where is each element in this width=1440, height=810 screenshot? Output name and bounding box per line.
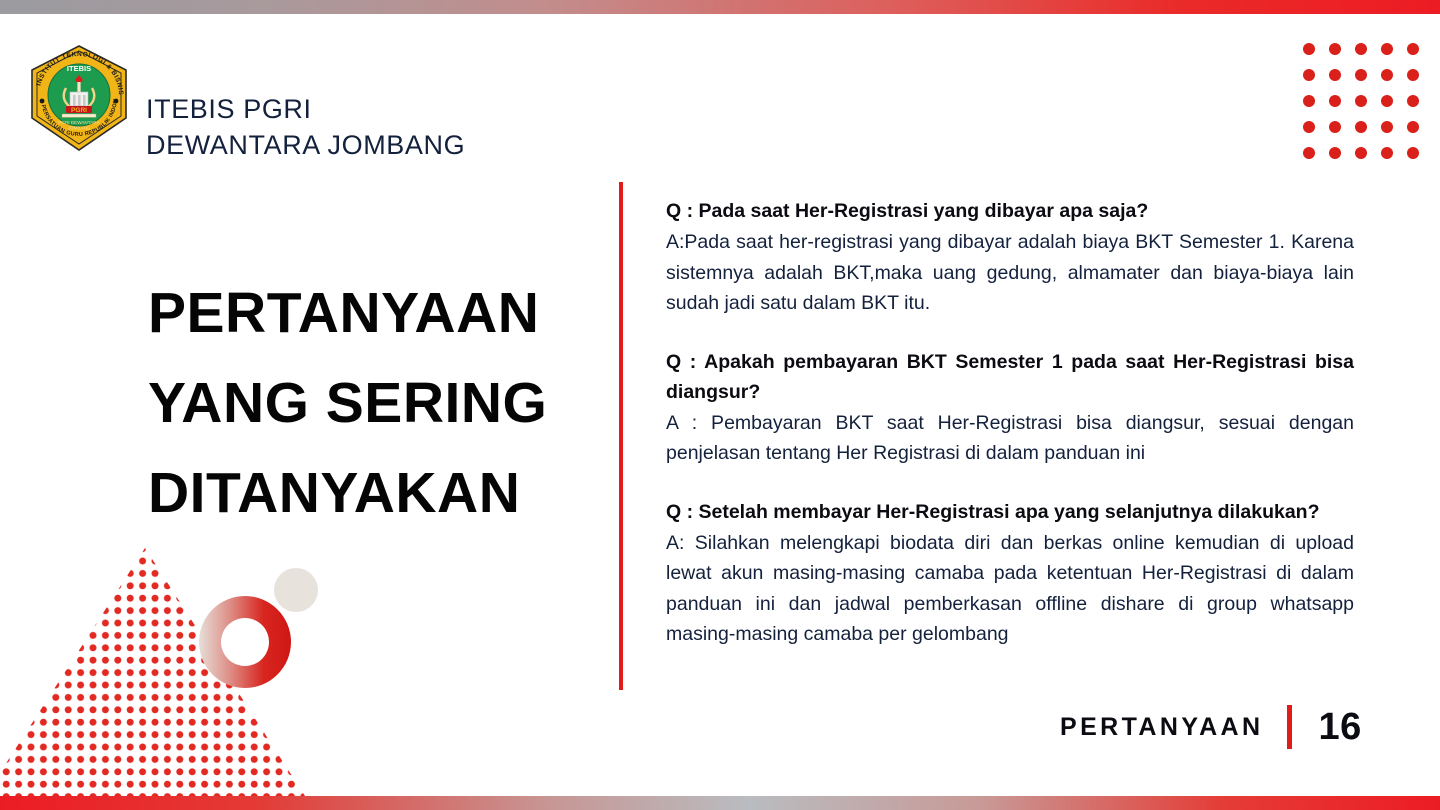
faq-answer: A : Pembayaran BKT saat Her-Registrasi b…	[666, 408, 1354, 469]
page-title-line-2: YANG SERING	[148, 358, 588, 448]
top-gradient-bar	[0, 0, 1440, 14]
institution-line-2: DEWANTARA JOMBANG	[146, 127, 465, 163]
slide-root: ITEBIS PGRI PGRI DEWANTARA JOMBANG INSTI…	[0, 0, 1440, 810]
slide-footer: PERTANYAAN 16	[1060, 702, 1362, 752]
institution-name: ITEBIS PGRI DEWANTARA JOMBANG	[146, 55, 465, 199]
faq-answer: A: Silahkan melengkapi biodata diri dan …	[666, 528, 1354, 650]
svg-text:PGRI: PGRI	[71, 107, 87, 114]
faq-item: Q : Apakah pembayaran BKT Semester 1 pad…	[666, 347, 1354, 469]
svg-text:PGRI DEWANTARA: PGRI DEWANTARA	[58, 120, 100, 125]
footer-divider	[1287, 705, 1292, 749]
faq-item: Q : Setelah membayar Her-Registrasi apa …	[666, 497, 1354, 650]
itebis-pgri-logo: ITEBIS PGRI PGRI DEWANTARA JOMBANG INSTI…	[26, 44, 132, 152]
faq-item: Q : Pada saat Her-Registrasi yang dibaya…	[666, 196, 1354, 319]
bottom-gradient-bar	[0, 796, 1440, 810]
faq-question: Q : Pada saat Her-Registrasi yang dibaya…	[666, 196, 1354, 226]
institution-line-1: ITEBIS PGRI	[146, 94, 312, 124]
svg-text:JOMBANG: JOMBANG	[68, 126, 91, 131]
svg-text:ITEBIS: ITEBIS	[67, 64, 91, 73]
page-title-line-1: PERTANYAAN	[148, 268, 588, 358]
page-number: 16	[1318, 706, 1361, 749]
footer-section-label: PERTANYAAN	[1060, 713, 1263, 742]
content-divider	[619, 182, 623, 690]
faq-question: Q : Setelah membayar Her-Registrasi apa …	[666, 497, 1354, 527]
page-title-line-3: DITANYAKAN	[148, 448, 588, 538]
faq-list: Q : Pada saat Her-Registrasi yang dibaya…	[666, 196, 1354, 650]
faq-answer: A:Pada saat her-registrasi yang dibayar …	[666, 227, 1354, 319]
decorative-shapes	[0, 530, 360, 810]
page-title: PERTANYAAN YANG SERING DITANYAKAN	[148, 268, 588, 538]
faq-question: Q : Apakah pembayaran BKT Semester 1 pad…	[666, 347, 1354, 407]
dot-grid-decoration	[1303, 43, 1419, 159]
